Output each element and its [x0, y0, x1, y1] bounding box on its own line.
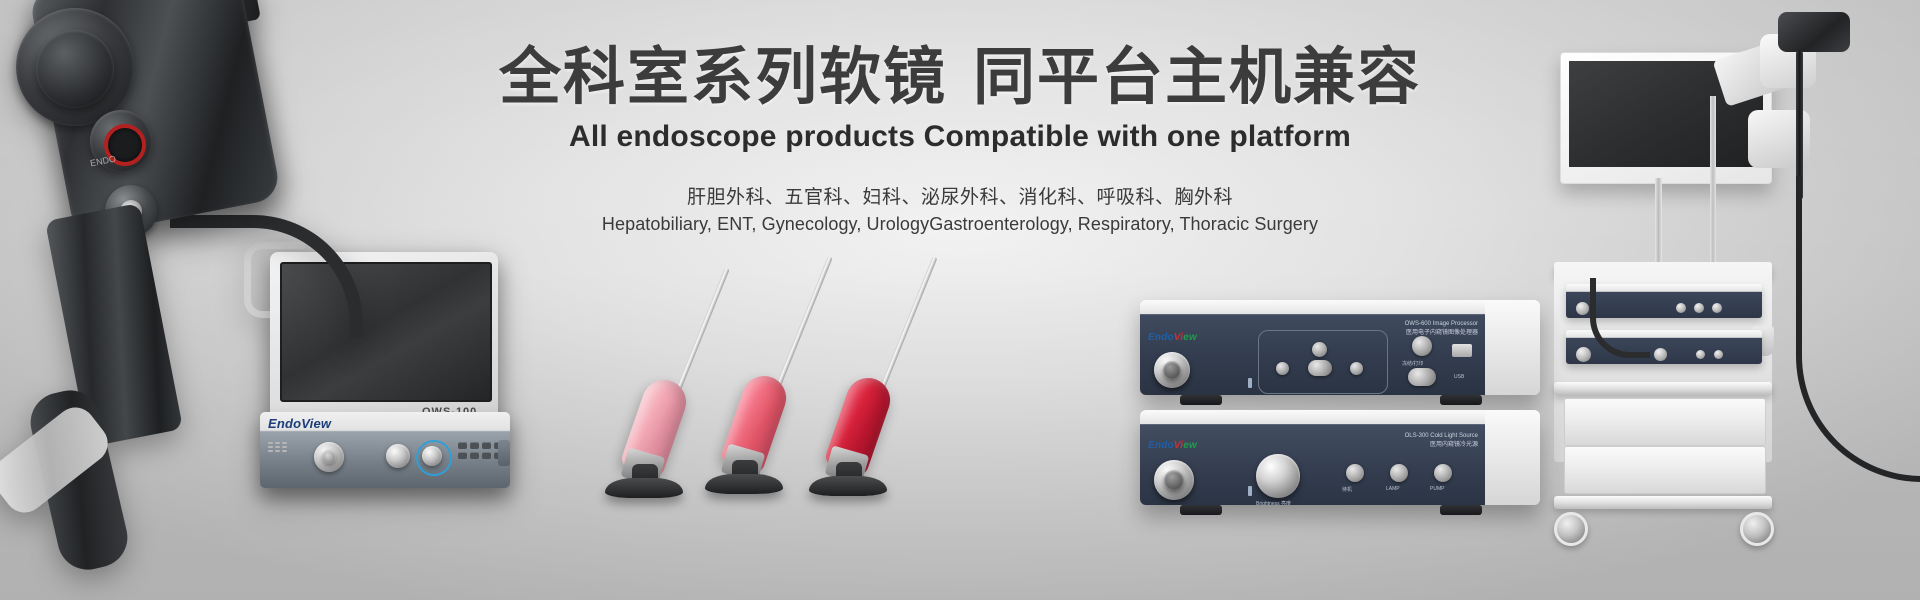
image-processor-freeze-key: [1412, 336, 1432, 356]
workstation-light-port-2: [422, 446, 442, 466]
rigid-scope-3-stand: [809, 476, 887, 496]
light-source-foot-left: [1180, 505, 1222, 515]
light-source-brightness-knob: [1256, 454, 1300, 498]
image-processor-enter-key: [1408, 368, 1436, 386]
light-source-indicator: [1248, 486, 1252, 496]
image-processor-left-key: [1276, 362, 1289, 375]
light-source-unit: EndoView OLS-300 Cold Light Source 医用内窥镜…: [1140, 410, 1540, 505]
light-source-standby-label: 待机: [1342, 486, 1352, 493]
image-processor-up-key: [1312, 342, 1327, 357]
specialties-english: Hepatobiliary, ENT, Gynecology, UrologyG…: [0, 214, 1920, 235]
specialties-chinese: 肝胆外科、五官科、妇科、泌尿外科、消化科、呼吸科、胸外科: [0, 182, 1920, 209]
light-source-model-subtext: 医用内窥镜冷光源: [1398, 441, 1478, 450]
processor-foot-left: [1180, 395, 1222, 405]
trolley-unit-1-knob: [1576, 302, 1589, 315]
trolley-unit-2-dial: [1654, 348, 1667, 361]
light-source-standby-key: [1346, 464, 1364, 482]
image-processor-model-text: OWS-600 Image Processor: [1398, 320, 1478, 329]
image-processor-brand-logo: EndoView: [1148, 332, 1197, 343]
endoscope-product-banner: ENDO OWS-100 医用内窥镜摄像系统 EndoView: [0, 0, 1920, 600]
rigid-scope-1-stand: [605, 478, 683, 498]
banner-headline: 全科室系列软镜同平台主机兼容: [0, 46, 1920, 110]
trolley-unit-1-button-b: [1694, 303, 1704, 313]
light-source-pump-key: [1434, 464, 1452, 482]
image-processor-right-key: [1350, 362, 1363, 375]
light-source-side-vent: [1485, 410, 1540, 505]
trolley-shelf-mid: [1554, 382, 1772, 395]
image-processor-side-vent: [1485, 300, 1540, 395]
trolley-unit-1-button-c: [1712, 303, 1722, 313]
image-processor-freeze-label: 冻结/打印: [1402, 360, 1423, 367]
headline-part-1: 全科室系列软镜: [499, 43, 947, 112]
banner-subheadline: All endoscope products Compatible with o…: [0, 120, 1920, 154]
processor-foot-right: [1440, 395, 1482, 405]
image-processor-indicator: [1248, 378, 1252, 388]
trolley-unit-2-button-b: [1714, 350, 1723, 359]
image-processor-connector-center: [1163, 361, 1181, 379]
image-processor-usb-port: [1452, 344, 1472, 357]
light-source-model-text: OLS-300 Cold Light Source: [1398, 432, 1478, 441]
workstation-keypad: [458, 442, 503, 459]
banner-text-block: 全科室系列软镜同平台主机兼容 All endoscope products Co…: [0, 46, 1920, 235]
trolley-unit-1-button-a: [1676, 303, 1686, 313]
trolley-wheel-right: [1740, 512, 1774, 546]
light-source-brand-logo: EndoView: [1148, 440, 1197, 451]
light-source-lamp-label: LAMP: [1386, 486, 1400, 492]
trolley-shelf-bottom: [1554, 496, 1772, 509]
light-source-foot-right: [1440, 505, 1482, 515]
trolley-unit-2-knob: [1576, 347, 1591, 362]
image-processor-model-label: OWS-600 Image Processor 医用电子内窥镜图像处理器: [1398, 320, 1478, 338]
image-processor-unit: EndoView OWS-600 Image Processor 医用电子内窥镜…: [1140, 300, 1540, 395]
light-source-model-label: OLS-300 Cold Light Source 医用内窥镜冷光源: [1398, 432, 1478, 450]
light-source-lamp-key: [1390, 464, 1408, 482]
rigid-endoscope-3: [800, 240, 930, 512]
light-source-brightness-label: Brightness 亮度: [1256, 500, 1291, 505]
trolley-unit-2-button-a: [1696, 350, 1705, 359]
trolley-drawer-1: [1564, 398, 1766, 446]
workstation-power-switch: [498, 440, 510, 466]
image-processor-model-subtext: 医用电子内窥镜图像处理器: [1398, 329, 1478, 338]
light-source-pump-label: PUMP: [1430, 486, 1444, 492]
light-source-connector-center: [1164, 470, 1184, 490]
image-processor-usb-label: USB: [1454, 374, 1464, 380]
processor-stack: EndoView OWS-600 Image Processor 医用电子内窥镜…: [1140, 300, 1560, 530]
trolley-drawer-2: [1564, 446, 1766, 494]
headline-part-2: 同平台主机兼容: [973, 43, 1421, 112]
rigid-scope-2-stand: [705, 474, 783, 494]
image-processor-menu-key: [1308, 360, 1332, 376]
